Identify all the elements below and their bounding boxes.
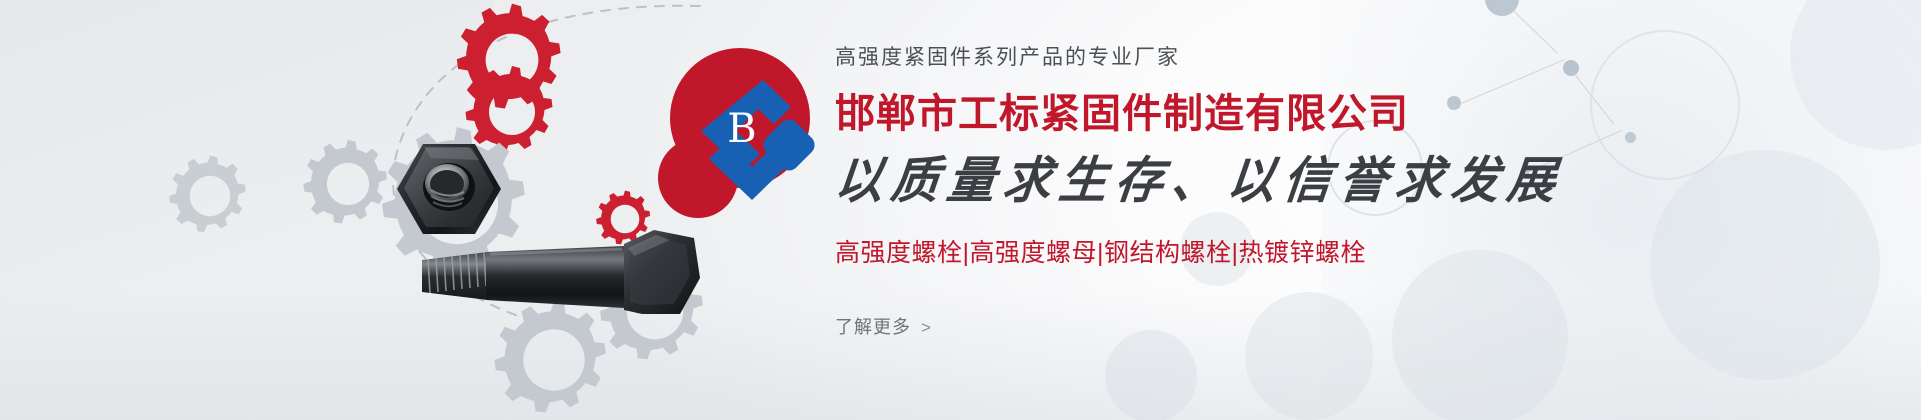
logo-letter: B xyxy=(727,106,756,152)
banner-tagline: 高强度紧固件系列产品的专业厂家 xyxy=(835,44,1735,71)
banner-copy: 高强度紧固件系列产品的专业厂家 邯郸市工标紧固件制造有限公司 以质量求生存、以信… xyxy=(835,44,1735,339)
learn-more-label: 了解更多 xyxy=(835,317,911,337)
calligraphy-slogan: 以质量求生存、以信誉求发展 xyxy=(832,152,1738,212)
bokeh-circle xyxy=(1105,330,1197,420)
product-keywords: 高强度螺栓|高强度螺母|钢结构螺栓|热镀锌螺栓 xyxy=(835,237,1735,270)
company-name-heading: 邯郸市工标紧固件制造有限公司 xyxy=(835,91,1735,137)
gear-grey-outline-icon xyxy=(166,152,254,240)
chevron-right-icon: > xyxy=(921,318,932,337)
learn-more-link[interactable]: 了解更多> xyxy=(835,313,932,339)
company-logo: B xyxy=(640,46,830,236)
hero-banner: B 高强度紧固件系列产品的专业厂家 邯郸市工标紧固件制造有限公司 以质量求生存、… xyxy=(0,0,1921,420)
hex-head-bolt-product-image xyxy=(418,222,708,332)
